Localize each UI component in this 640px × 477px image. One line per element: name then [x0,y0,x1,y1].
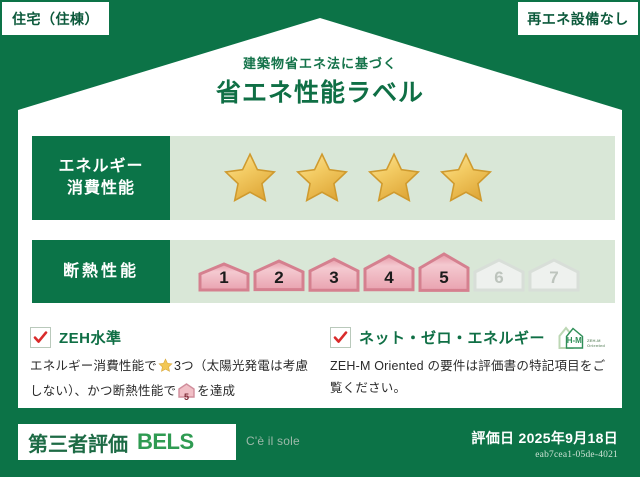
insulation-performance-label: 断熱性能 [32,240,170,303]
star-rating [170,151,494,205]
insulation-grade-badge-number: 2 [253,268,305,288]
renewable-equipment-tag: 再エネ設備なし [518,2,638,35]
zeh-standard-body-part1: エネルギー消費性能で [30,359,157,373]
insulation-grade-badge: 6 [473,258,525,292]
insulation-performance-row: 断熱性能 1234567 [32,240,615,303]
inline-grade-badge-number: 5 [178,390,195,406]
evaluation-date: 評価日 2025年9月18日 [471,428,618,448]
evaluation-id: eab7cea1-05de-4021 [535,450,618,460]
star-icon [294,151,350,205]
net-zero-energy-checkbox [330,327,351,348]
insulation-grade-badge: 4 [363,254,415,292]
star-icon [366,151,422,205]
third-party-evaluation-label: 第三者評価 [28,428,128,457]
insulation-grade-badge-number: 4 [363,268,415,288]
bels-logo-text: BELS [137,429,194,455]
insulation-grade-badge-number: 3 [308,268,360,288]
insulation-grade-badge-number: 6 [473,268,525,288]
insulation-grade-badge: 5 [418,252,470,292]
building-type-tag: 住宅（住棟） [2,2,109,35]
zeh-standard-note: ZEH水準 エネルギー消費性能で 3つ（太陽光発電は考慮しない）、かつ断熱性能で… [30,326,314,406]
insulation-grade-scale: 1234567 [170,252,580,292]
insulation-grade-badge-number: 5 [418,268,470,288]
insulation-performance-label-text: 断熱性能 [63,261,139,283]
energy-label-card: 住宅（住棟） 再エネ設備なし 建築物省エネ法に基づく 省エネ性能ラベル エネルギ… [0,0,640,477]
inline-grade-badge: 5 [178,383,195,406]
zeh-standard-body-part3: を達成 [197,384,235,398]
energy-performance-label-line2: 消費性能 [67,178,135,200]
title-main: 省エネ性能ラベル [0,78,640,108]
energy-performance-label: エネルギー 消費性能 [32,136,170,220]
zeh-standard-heading: ZEH水準 [30,326,314,349]
star-icon [222,151,278,205]
renewable-equipment-tag-label: 再エネ設備なし [527,9,629,29]
zeh-standard-checkbox [30,327,51,348]
svg-text:H-M: H-M [567,336,582,345]
energy-performance-label-line1: エネルギー [58,156,143,178]
star-icon [438,151,494,205]
company-name: C'è il sole [246,434,300,448]
zeh-m-oriented-logo: H-M ZEH-M Oriented [557,325,605,351]
energy-performance-row: エネルギー 消費性能 [32,136,615,220]
insulation-grade-badge: 1 [198,262,250,292]
building-type-tag-label: 住宅（住棟） [12,9,99,29]
third-party-evaluation-badge: 第三者評価 BELS [18,424,236,460]
energy-performance-value-panel [170,136,615,220]
insulation-grade-badge: 7 [528,258,580,292]
title-subtitle: 建築物省エネ法に基づく [0,56,640,72]
net-zero-energy-title: ネット・ゼロ・エネルギー [359,327,545,348]
page-title: 建築物省エネ法に基づく 省エネ性能ラベル [0,56,640,108]
insulation-grade-badge-number: 7 [528,268,580,288]
net-zero-energy-body: ZEH-M Oriented の要件は評価書の特記項目をご覧ください。 [330,356,614,400]
net-zero-energy-note: ネット・ゼロ・エネルギー H-M ZEH-M Oriented ZEH-M Or… [330,326,614,400]
zeh-standard-body: エネルギー消費性能で 3つ（太陽光発電は考慮しない）、かつ断熱性能で 5 を達成 [30,356,314,406]
insulation-grade-badge: 2 [253,259,305,292]
insulation-grade-badge-number: 1 [198,268,250,288]
inline-star-icon [158,358,173,381]
zeh-m-logo-caption-line2: Oriented [587,343,605,348]
zeh-standard-title: ZEH水準 [59,327,122,348]
net-zero-energy-heading: ネット・ゼロ・エネルギー H-M ZEH-M Oriented [330,326,614,349]
insulation-grade-badge: 3 [308,257,360,292]
insulation-performance-value-panel: 1234567 [170,240,615,303]
